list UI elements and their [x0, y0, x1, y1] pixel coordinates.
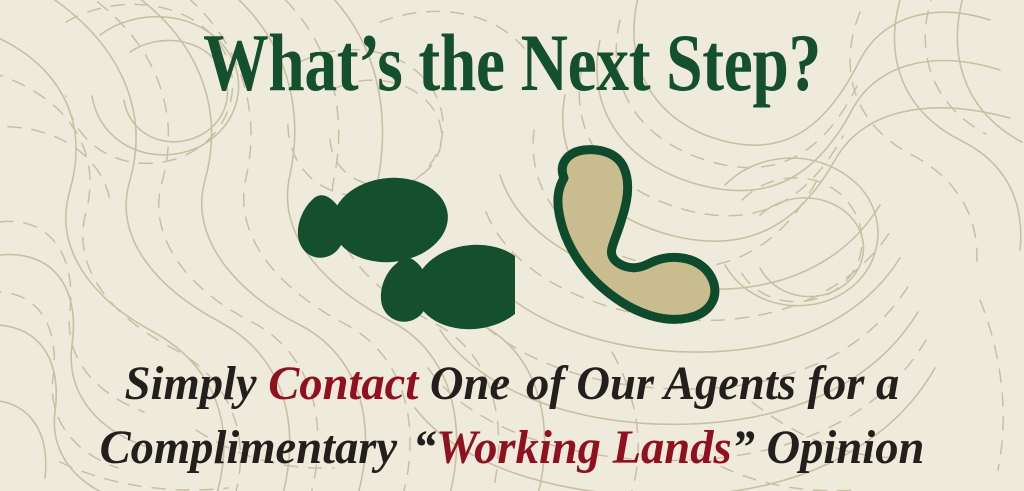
tagline-line-2: Complimentary “Working Lands” Opinion [15, 416, 1008, 480]
icon-row [0, 140, 1024, 335]
tagline: Simply Contact One of Our Agents for a C… [0, 352, 1024, 480]
tagline-l2-part1: Complimentary [100, 421, 397, 474]
footprints-icon [275, 155, 515, 335]
tagline-l1-part1: Simply [125, 357, 269, 410]
phone-icon [536, 142, 736, 332]
tagline-l2-part2: Opinion [755, 421, 924, 474]
close-quote: ” [732, 421, 755, 474]
tagline-working-lands-accent: Working Lands [436, 421, 731, 474]
tagline-l1-part2: One [418, 357, 510, 410]
next-step-banner: What’s the Next Step? Simply Contact One… [0, 0, 1024, 491]
page-title: What’s the Next Step? [102, 22, 921, 104]
tagline-l1-part3: of Our Agents for a [526, 357, 899, 410]
tagline-line-1: Simply Contact One of Our Agents for a [15, 352, 1008, 416]
tagline-contact-accent: Contact [268, 357, 418, 410]
open-quote: “ [413, 421, 436, 474]
